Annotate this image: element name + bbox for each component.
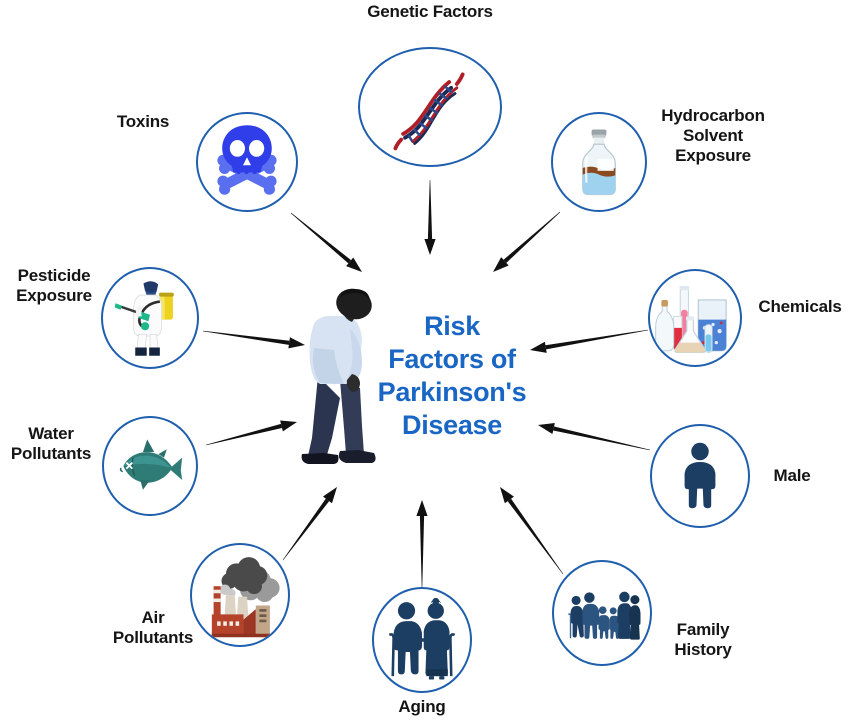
arrow-shaft-genetic-factors xyxy=(428,180,432,239)
label-toxins: Toxins xyxy=(88,112,198,132)
label-aging: Aging xyxy=(372,697,472,717)
solvent-bottle-icon xyxy=(562,120,636,204)
node-genetic-factors[interactable] xyxy=(358,47,502,167)
arrow-head-pesticide-exposure xyxy=(288,337,305,348)
skull-crossbones-icon xyxy=(207,122,287,202)
arrow-head-genetic-factors xyxy=(424,239,435,255)
node-aging[interactable] xyxy=(372,587,472,693)
node-chemicals[interactable] xyxy=(648,269,742,367)
node-hydrocarbon-solvent-exposure[interactable] xyxy=(551,112,647,212)
node-family-history[interactable] xyxy=(552,560,652,666)
arrow-shaft-family-history xyxy=(508,499,564,574)
dna-helix-icon xyxy=(382,59,478,155)
center-title: Risk Factors of Parkinson's Disease xyxy=(362,310,542,442)
factory-smokestack-icon xyxy=(196,551,284,639)
pesticide-sprayer-icon xyxy=(109,275,191,361)
fish-icon xyxy=(107,431,193,501)
arrow-shaft-toxins xyxy=(291,213,351,264)
arrow-shaft-air-pollutants xyxy=(283,499,329,561)
arrow-shaft-male xyxy=(553,426,650,450)
label-male: Male xyxy=(752,466,832,486)
arrow-head-aging xyxy=(416,500,427,516)
node-pesticide-exposure[interactable] xyxy=(101,267,199,369)
family-group-icon xyxy=(558,578,646,648)
arrow-shaft-water-pollutants xyxy=(206,424,282,445)
label-water-pollutants: Water Pollutants xyxy=(0,424,106,464)
node-toxins[interactable] xyxy=(196,112,298,212)
label-air-pollutants: Air Pollutants xyxy=(98,608,208,648)
arrow-shaft-chemicals xyxy=(545,330,648,350)
node-water-pollutants[interactable] xyxy=(102,416,198,516)
arrow-shaft-hydrocarbon-solvent-exposure xyxy=(504,212,561,263)
arrow-head-water-pollutants xyxy=(280,420,297,431)
lab-glassware-icon xyxy=(654,277,736,359)
label-hydrocarbon-solvent-exposure: Hydrocarbon Solvent Exposure xyxy=(638,106,788,166)
label-family-history: Family History xyxy=(648,620,758,660)
risk-factors-diagram: Risk Factors of Parkinson's Disease Gene… xyxy=(0,0,850,726)
label-pesticide-exposure: Pesticide Exposure xyxy=(0,266,110,306)
label-genetic-factors: Genetic Factors xyxy=(332,2,528,22)
elderly-couple-icon xyxy=(379,594,465,686)
label-chemicals: Chemicals xyxy=(750,297,850,317)
arrow-shaft-aging xyxy=(420,516,424,588)
male-figure-icon xyxy=(665,432,735,520)
node-male[interactable] xyxy=(650,424,750,528)
arrow-shaft-pesticide-exposure xyxy=(203,331,289,345)
